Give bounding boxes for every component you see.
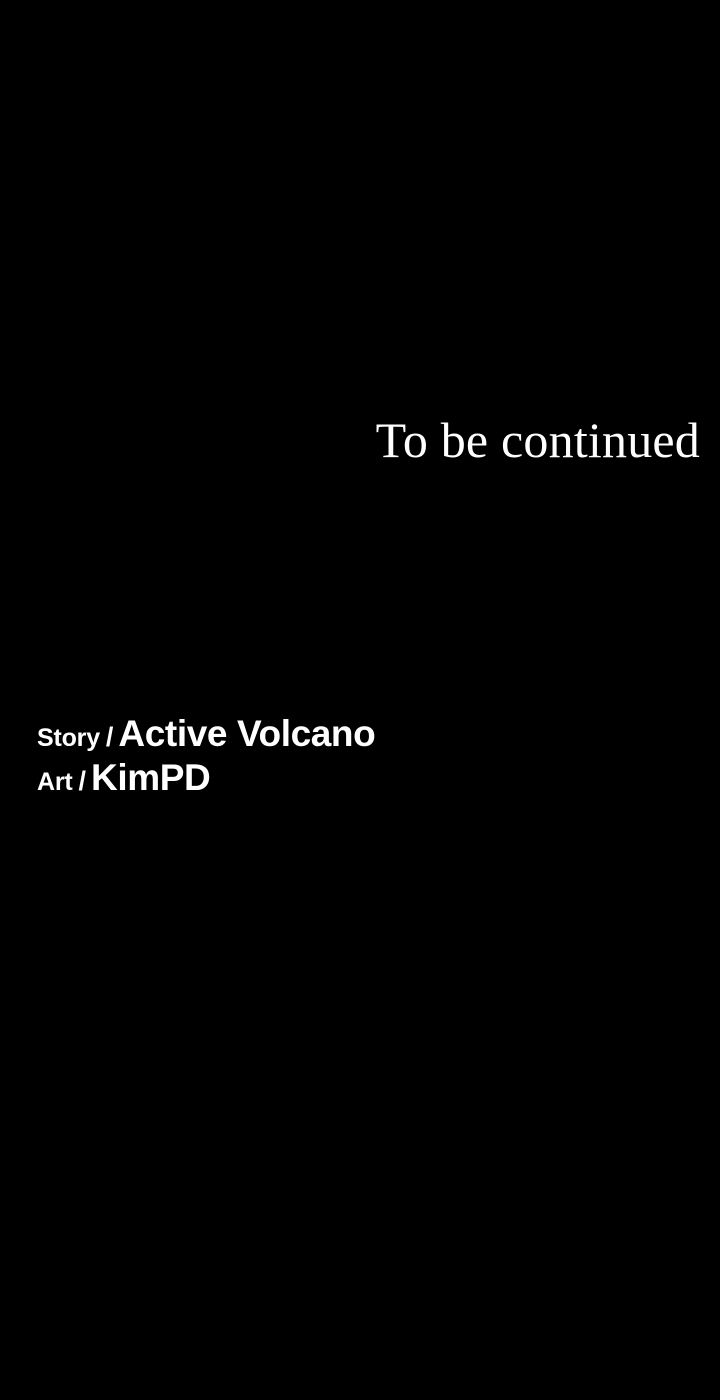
credit-role-label-story: Story: [37, 724, 100, 753]
credit-name-story: Active Volcano: [118, 713, 375, 755]
credit-separator-icon: /: [73, 766, 92, 797]
to-be-continued-text: To be continued: [376, 415, 700, 465]
credit-name-art: KimPD: [91, 757, 210, 799]
credit-separator-icon: /: [100, 722, 119, 753]
credits-block: Story / Active Volcano Art / KimPD: [37, 713, 375, 801]
credit-line-art: Art / KimPD: [37, 757, 375, 801]
credit-line-story: Story / Active Volcano: [37, 713, 375, 757]
webtoon-end-panel: To be continued Story / Active Volcano A…: [0, 0, 720, 1400]
credit-role-label-art: Art: [37, 768, 73, 797]
